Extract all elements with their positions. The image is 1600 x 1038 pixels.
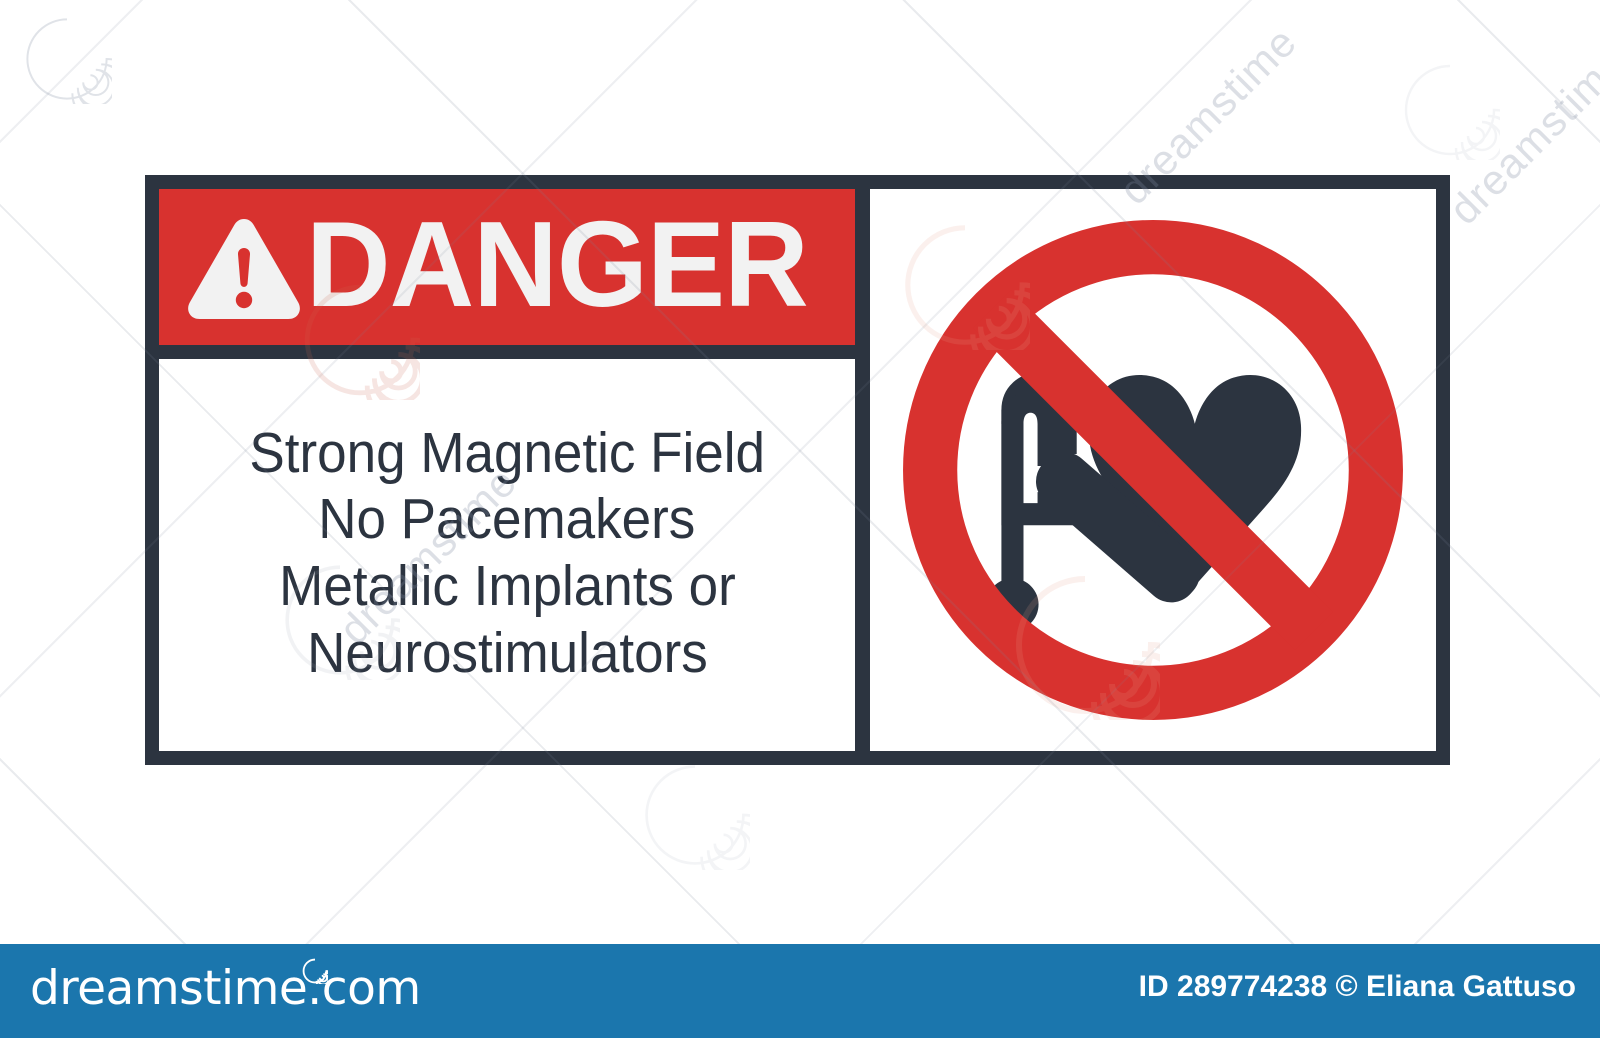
- spiral-watermark-icon: [1400, 60, 1500, 160]
- spiral-logo-icon: [302, 958, 328, 984]
- danger-sign: DANGER Strong Magnetic Field No Pacemake…: [145, 175, 1450, 765]
- sign-message-panel: Strong Magnetic Field No Pacemakers Meta…: [159, 359, 855, 751]
- message-line-3: Metallic Implants or: [279, 553, 736, 620]
- warning-triangle-icon: [186, 215, 302, 319]
- sign-pictogram-panel: [870, 189, 1436, 751]
- danger-header-band: DANGER: [159, 189, 855, 345]
- watermark-word: dreamstime: [1440, 38, 1600, 234]
- message-line-2: No Pacemakers: [318, 486, 695, 553]
- image-credit: ID 289774238 © Eliana Gattuso: [1139, 970, 1576, 1004]
- dreamstime-brand-text: dreamstime.com: [30, 961, 421, 1016]
- stock-image-canvas: DANGER Strong Magnetic Field No Pacemake…: [0, 0, 1600, 1038]
- message-line-1: Strong Magnetic Field: [249, 420, 765, 487]
- danger-word: DANGER: [306, 203, 808, 331]
- message-line-4: Neurostimulators: [307, 620, 708, 687]
- pacemaker-lead-connector: [1038, 492, 1118, 514]
- dreamstime-footer-bar: dreamstime.com ID 289774238 © Eliana Gat…: [0, 944, 1600, 1038]
- spiral-watermark-icon: [22, 14, 112, 104]
- spiral-watermark-icon: [640, 760, 750, 870]
- pacemaker-lead-shaft: [1001, 410, 1023, 607]
- sign-text-column: DANGER Strong Magnetic Field No Pacemake…: [159, 189, 855, 751]
- no-pacemaker-icon: [896, 213, 1410, 727]
